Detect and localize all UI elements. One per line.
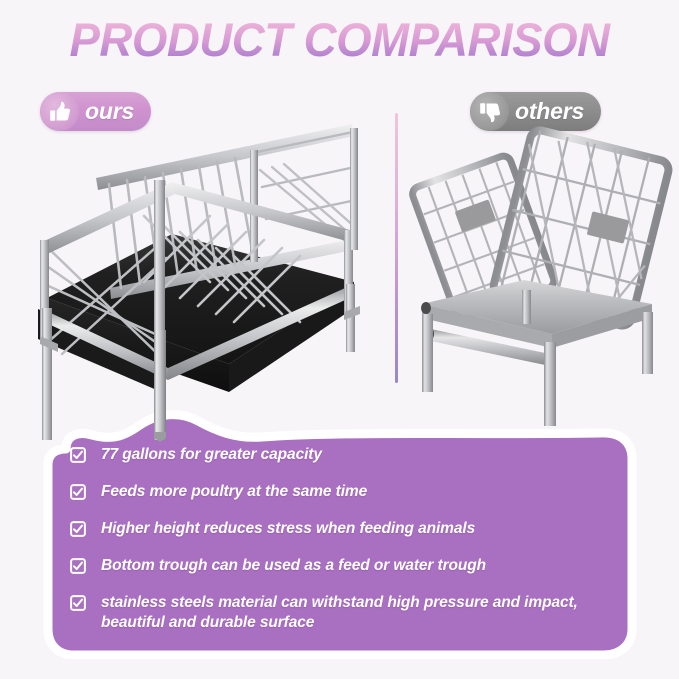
checkbox-checked-icon [70,558,86,574]
checkbox-checked-icon [70,447,86,463]
list-item: stainless steels material can withstand … [70,593,626,633]
list-item: 77 gallons for greater capacity [70,445,626,465]
list-item-label: Feeds more poultry at the same time [101,482,367,502]
list-item: Feeds more poultry at the same time [70,482,626,502]
others-product-image [404,128,666,380]
list-item-label: Bottom trough can be used as a feed or w… [101,556,486,576]
checkbox-checked-icon [70,521,86,537]
list-item-label: Higher height reduces stress when feedin… [101,519,475,539]
list-item: Bottom trough can be used as a feed or w… [70,556,626,576]
page-title: PRODUCT COMPARISON [10,14,669,66]
others-badge: others [470,92,601,131]
features-list: 77 gallons for greater capacity Feeds mo… [70,445,626,633]
thumbs-down-icon [470,92,509,131]
vertical-divider [395,113,398,383]
others-badge-label: others [515,98,584,125]
list-item-label: 77 gallons for greater capacity [101,445,322,465]
product-leg-overlay [152,330,178,442]
features-panel: 77 gallons for greater capacity Feeds mo… [40,405,640,659]
product-comparison-infographic: PRODUCT COMPARISON ours others [0,0,679,679]
ours-product-image [14,112,386,442]
checkbox-checked-icon [70,595,86,611]
list-item: Higher height reduces stress when feedin… [70,519,626,539]
checkbox-checked-icon [70,484,86,500]
list-item-label: stainless steels material can withstand … [101,593,626,633]
